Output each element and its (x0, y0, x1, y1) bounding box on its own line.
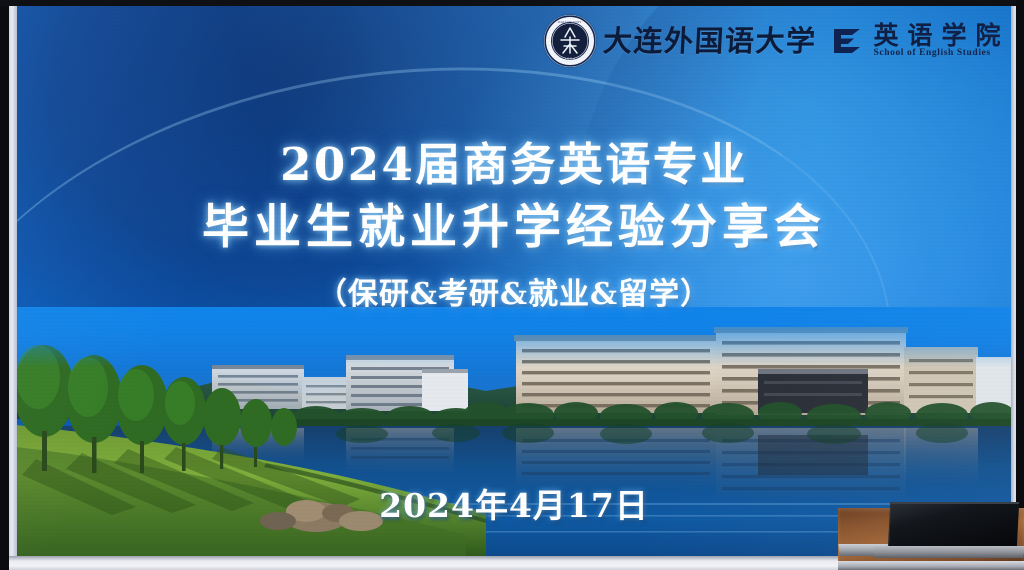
slide-subtitle: （保研&考研&就业&留学） (16, 269, 1012, 313)
school-name-english: School of English Studies (874, 49, 1010, 59)
room-edge-left (0, 0, 9, 570)
presentation-slide: 1964 DALIAN UNIV 大连外国语大学 英语学院 School of … (16, 5, 1012, 557)
university-name-chinese: 大连外国语大学 (602, 27, 817, 56)
title-line-2: 毕业生就业升学经验分享会 (16, 199, 1012, 256)
room-edge-right (1016, 0, 1024, 570)
projected-slide-photo: 1964 DALIAN UNIV 大连外国语大学 英语学院 School of … (0, 0, 1024, 570)
slide-title-block: 2024届商务英语专业 毕业生就业升学经验分享会 （保研&考研&就业&留学） (16, 138, 1012, 313)
school-name-block: 英语学院 School of English Studies (874, 23, 1010, 59)
university-seal-icon: 1964 DALIAN UNIV (544, 15, 596, 67)
screen-frame-left (8, 4, 17, 570)
school-emblem-icon (830, 24, 864, 58)
desk-edge (838, 561, 1024, 570)
laptop-deck (873, 546, 1024, 558)
university-logo-lockup: 1964 DALIAN UNIV 大连外国语大学 英语学院 School of … (544, 13, 1012, 69)
svg-text:DALIAN UNIV: DALIAN UNIV (558, 20, 582, 24)
school-name-chinese: 英语学院 (874, 23, 1010, 49)
title-line-1: 2024届商务英语专业 (16, 138, 1012, 191)
svg-text:1964: 1964 (564, 57, 576, 62)
laptop-screen (888, 502, 1019, 548)
room-edge-top (0, 0, 1024, 6)
